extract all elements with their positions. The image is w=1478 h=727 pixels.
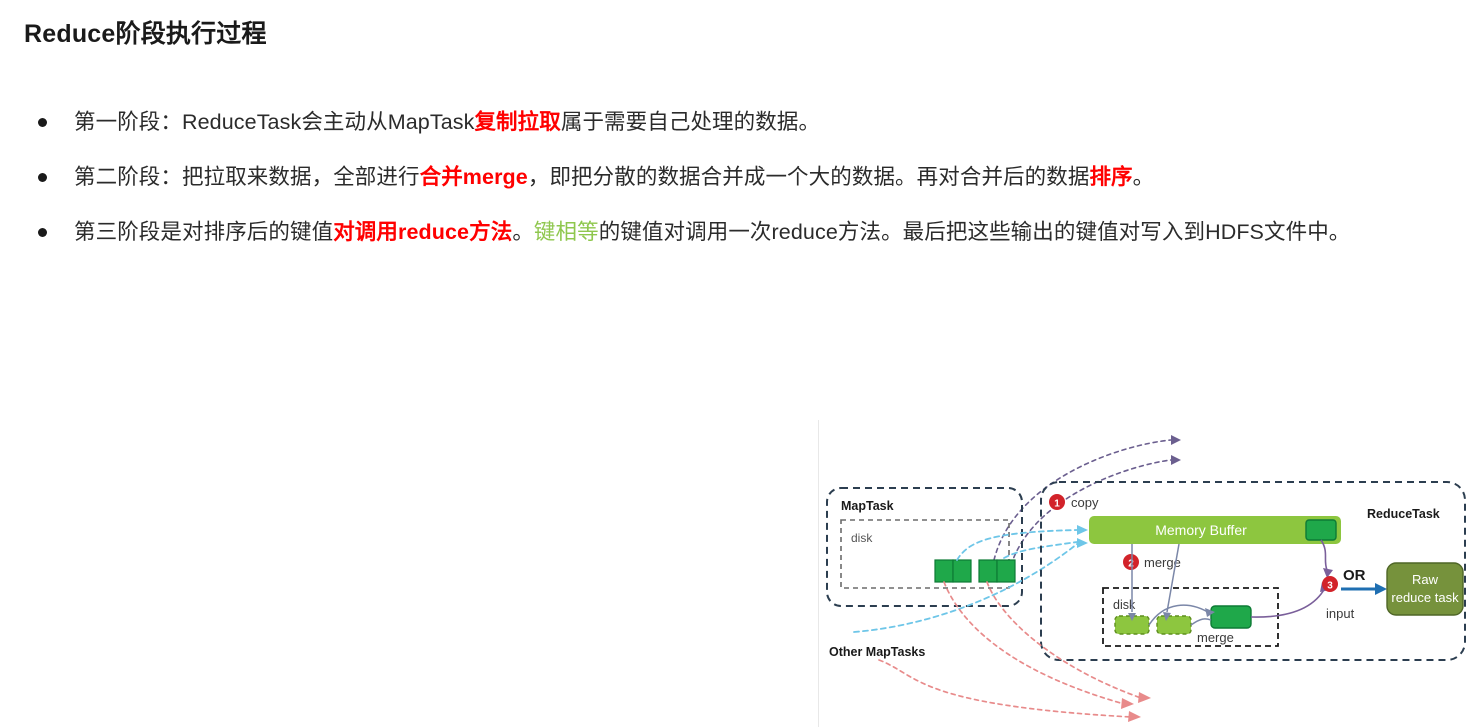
copy-step-number: 1 [1054, 499, 1060, 510]
text-segment: 属于需要自己处理的数据。 [561, 110, 820, 134]
text-segment: 。 [512, 220, 534, 244]
input-step-number: 3 [1327, 581, 1333, 592]
or-arrowhead-icon [1375, 583, 1387, 595]
raw-reduce-task-box [1387, 563, 1463, 615]
memory-buffer-filled-block [1306, 520, 1336, 540]
maptask-disk-label: disk [851, 531, 873, 545]
input-path [1251, 588, 1325, 617]
or-label: OR [1343, 567, 1366, 584]
input-label: input [1326, 606, 1355, 621]
text-segment-highlight: 对调用reduce方法 [333, 220, 512, 244]
text-segment: 第三阶段是对排序后的键值 [74, 220, 333, 244]
merge-label-bottom: merge [1197, 630, 1234, 645]
raw-reduce-task-line2: reduce task [1391, 590, 1459, 605]
other-maptasks-label: Other MapTasks [829, 645, 925, 659]
raw-reduce-task-line1: Raw [1412, 572, 1439, 587]
text-segment-highlight: 合并merge [420, 165, 528, 189]
text-segment-highlight: 排序 [1089, 165, 1132, 189]
reducetask-label: ReduceTask [1367, 507, 1440, 521]
bullet-dot-icon [38, 99, 47, 145]
list-item: 第三阶段是对排序后的键值对调用reduce方法。键相等的键值对调用一次reduc… [24, 209, 1454, 255]
text-segment-highlight-green: 键相等 [534, 220, 599, 244]
maptask-label: MapTask [841, 499, 894, 513]
memory-buffer-label: Memory Buffer [1155, 522, 1247, 538]
copy-label: copy [1071, 495, 1099, 510]
list-item: 第一阶段：ReduceTask会主动从MapTask复制拉取属于需要自己处理的数… [24, 99, 1454, 145]
bullet-dot-icon [38, 209, 47, 255]
bullet-list: 第一阶段：ReduceTask会主动从MapTask复制拉取属于需要自己处理的数… [24, 99, 1454, 264]
merge-step-number: 2 [1128, 559, 1134, 570]
text-segment-highlight: 复制拉取 [474, 110, 560, 134]
bullet-text: 第一阶段：ReduceTask会主动从MapTask复制拉取属于需要自己处理的数… [74, 110, 820, 134]
list-item: 第二阶段：把拉取来数据，全部进行合并merge，即把分散的数据合并成一个大的数据… [24, 154, 1454, 200]
buffer-to-input-path [1321, 540, 1327, 570]
mapreduce-shuffle-diagram: MapTask disk Other MapTasks ReduceTask 1… [818, 420, 1478, 727]
page-title: Reduce阶段执行过程 [24, 14, 267, 50]
bullet-dot-icon [38, 154, 47, 200]
copy-arrowhead-icon [1077, 525, 1088, 548]
text-segment: 。 [1133, 165, 1155, 189]
text-segment: 第二阶段：把拉取来数据，全部进行 [74, 165, 420, 189]
merged-block [1211, 606, 1251, 628]
text-segment: ，即把分散的数据合并成一个大的数据。再对合并后的数据 [528, 165, 1090, 189]
text-segment: 第一阶段：ReduceTask会主动从MapTask [74, 110, 474, 134]
maptask-spill-blocks [935, 560, 1015, 582]
bullet-text: 第三阶段是对排序后的键值对调用reduce方法。键相等的键值对调用一次reduc… [74, 220, 1350, 244]
purple-arrowhead-icon [1171, 435, 1181, 465]
bullet-text: 第二阶段：把拉取来数据，全部进行合并merge，即把分散的数据合并成一个大的数据… [74, 165, 1154, 189]
text-segment: 的键值对调用一次reduce方法。最后把这些输出的键值对写入到HDFS文件中。 [599, 220, 1351, 244]
